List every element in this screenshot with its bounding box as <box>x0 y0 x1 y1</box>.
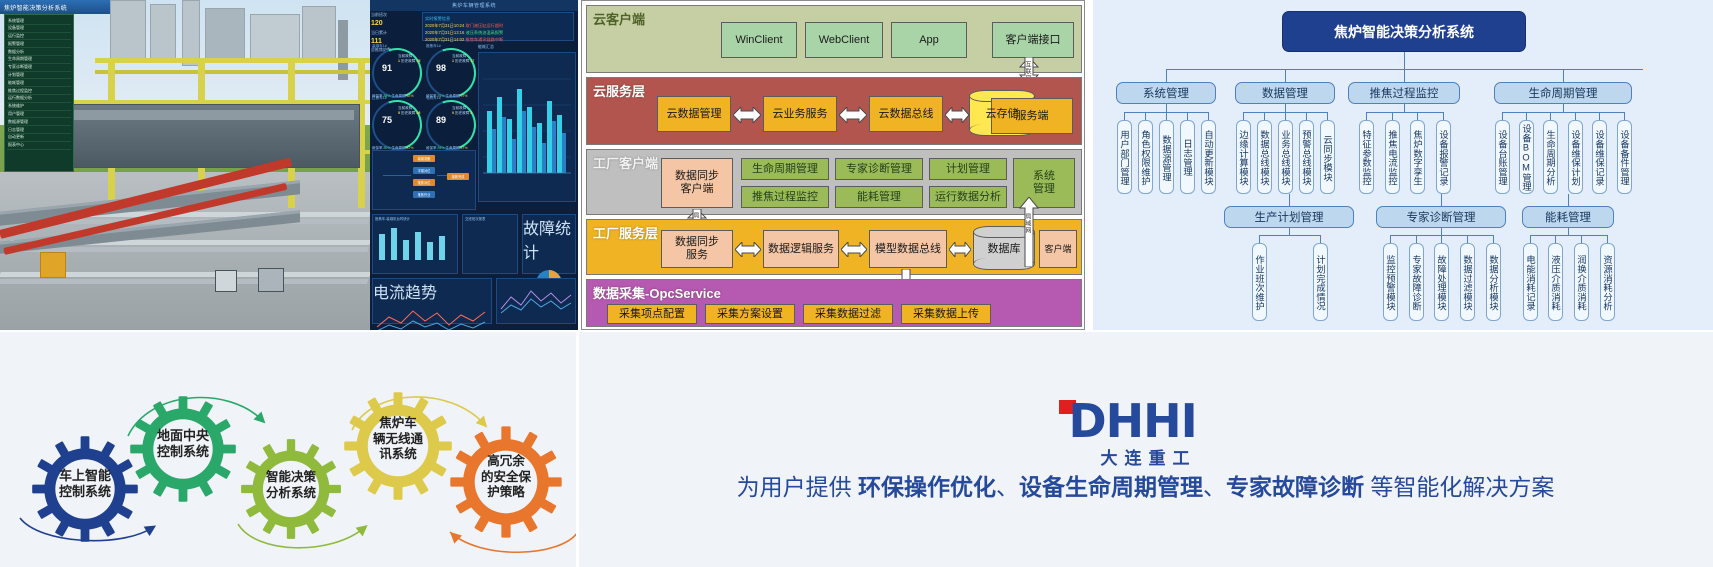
menu-item[interactable]: 日志管理 <box>7 126 71 134</box>
tree-leaf[interactable]: 数据过滤模块 <box>1460 243 1475 321</box>
menu-item[interactable]: 报表中心 <box>7 142 71 150</box>
tree-connector <box>1502 112 1503 120</box>
tree-connector <box>1581 235 1582 243</box>
window-titlebar: 焦炉智能决策分析系统 <box>0 0 110 14</box>
tree-group-pushing-monitor[interactable]: 推焦过程监控 <box>1348 82 1460 104</box>
chart-plot-area <box>478 52 576 202</box>
tree-leaf[interactable]: 计划完成情况 <box>1313 243 1328 321</box>
metric-value: 1 <box>398 59 400 63</box>
gear-1[interactable]: 车上智能 控制系统 <box>30 434 140 544</box>
arrow-bidirectional <box>841 242 867 257</box>
tree-connector <box>1441 194 1442 206</box>
arrow-bidirectional <box>735 242 761 257</box>
building <box>182 0 200 66</box>
gauge-grid: 装煤车1# 91 当前故障 1 历史故障 15 维保率 88% 生命周期 92% <box>372 44 476 149</box>
gear-label-5: 高冗余 的安全保 护策略 <box>448 454 564 501</box>
tree-group-system-mgmt[interactable]: 系统管理 <box>1116 82 1216 104</box>
tagline-highlight-2: 设备生命周期管理 <box>1019 474 1203 500</box>
panel-divider <box>578 0 581 330</box>
layer-title: 云客户端 <box>593 9 645 28</box>
metric-value: 17 <box>470 59 474 63</box>
coke-car <box>258 268 284 292</box>
flow-node[interactable]: 推焦作业 <box>413 191 435 198</box>
node-client-interface[interactable]: 客户端接口 <box>992 22 1074 58</box>
alarm-panel-title: 实时报警信息 <box>425 15 571 22</box>
tree-leaf[interactable]: 边缘计算模块 <box>1236 120 1251 194</box>
tree-connector <box>1416 235 1417 243</box>
menu-item[interactable]: 系统管理 <box>7 17 71 25</box>
node-webclient[interactable]: WebClient <box>805 22 883 58</box>
tree-connector <box>1145 112 1146 120</box>
gauge-title: 装煤车1# <box>372 44 387 49</box>
flow-node[interactable]: 推焦对位 <box>413 179 435 186</box>
tree-leaf[interactable]: 设备备件管理 <box>1617 120 1632 194</box>
tree-leaf[interactable]: 角色权限维护 <box>1138 120 1153 194</box>
gauge-card[interactable]: 拦焦车1# 75 当前故障 5 历史故障 28 维保率 80% 生命周期 87% <box>372 100 422 150</box>
current-trend-panel[interactable]: 电流趋势 13:44 13:45 <box>372 278 492 324</box>
gear-3[interactable]: 智能决策 分析系统 <box>239 437 343 541</box>
tree-leaf[interactable]: 监控预警模块 <box>1383 243 1398 321</box>
tree-bus <box>1366 112 1443 113</box>
oven-top-deck <box>64 110 354 120</box>
layer-factory-client: 工厂客户端 数据同步 客户端 生命周期管理 专家诊断管理 计划管理 推焦过程监控… <box>586 149 1082 215</box>
node-pushing-process-monitor[interactable]: 推焦过程监控 <box>741 186 829 208</box>
navigation-tree[interactable]: 系统管理 设备管理 运行监控 报警管理 数据分析 生命周期管理 专家诊断管理 计… <box>4 14 74 172</box>
tree-leaf[interactable]: 焦炉数字孪生 <box>1410 120 1425 194</box>
layer-cloud-service: 云服务层 云数据管理 云业务服务 云数据总线 <box>586 77 1082 145</box>
tree-connector <box>1493 235 1494 243</box>
gauge-value: 89 <box>430 115 452 125</box>
gear-label-2: 地面中央 控制系统 <box>128 428 238 461</box>
tree-leaf[interactable]: 设备BOM管理 <box>1519 120 1534 194</box>
alarm-row: 2020年7月31日14:02 推焦车通讯链路中断 <box>425 36 571 43</box>
trend-line-chart <box>373 303 491 330</box>
gantry-beam <box>95 70 370 74</box>
metric-value: 92% <box>406 94 413 98</box>
node-collect-point-config[interactable]: 采集项点配置 <box>607 304 697 324</box>
tree-connector <box>1599 112 1600 120</box>
tagline: 为用户提供 环保操作优化、设备生命周期管理、专家故障诊断 等智能化解决方案 <box>737 468 1555 502</box>
metric-label: 当前故障 <box>398 54 412 58</box>
tree-group-production-plan-mgmt[interactable]: 生产计划管理 <box>1224 206 1354 228</box>
menu-item[interactable]: 用户管理 <box>7 111 71 119</box>
tree-connector <box>1285 112 1286 120</box>
menu-item[interactable]: 设备管理 <box>7 25 71 33</box>
tree-group-energy-mgmt[interactable]: 能耗管理 <box>1522 206 1614 228</box>
gauge-value: 75 <box>376 115 398 125</box>
node-collect-scheme-setting[interactable]: 采集方案设置 <box>705 304 795 324</box>
metric-value: 15 <box>416 59 420 63</box>
node-runtime-data-analysis[interactable]: 运行数据分析 <box>929 186 1007 208</box>
building <box>205 8 245 62</box>
tree-connector <box>1166 112 1167 120</box>
metric-label: 生命周期 <box>445 94 459 98</box>
table-bars <box>373 222 457 266</box>
gauge-title: 拦焦车1# <box>372 96 387 101</box>
menu-item[interactable]: 报警管理 <box>7 40 71 48</box>
tree-leaf[interactable]: 数据总线模块 <box>1257 120 1272 194</box>
tree-leaf[interactable]: 电能消耗记录 <box>1523 243 1538 321</box>
energy-bar-chart: 能耗汇总 <box>478 44 576 210</box>
tree-leaf[interactable]: 预警总线模块 <box>1299 120 1314 194</box>
tree-group-expert-diagnosis-mgmt[interactable]: 专家诊断管理 <box>1376 206 1506 228</box>
tree-connector <box>1289 194 1290 206</box>
alarm-text: 液压系统油温高报警 <box>466 30 504 35</box>
tree-connector <box>1607 235 1608 243</box>
tree-connector <box>1289 228 1290 235</box>
panel-divider <box>576 332 579 567</box>
tree-connector <box>1568 228 1569 235</box>
node-lifecycle-mgmt[interactable]: 生命周期管理 <box>741 158 829 180</box>
node-cloud-data-bus[interactable]: 云数据总线 <box>869 96 943 132</box>
menu-item[interactable]: 数据分析 <box>7 48 71 56</box>
layer-title: 云服务层 <box>593 81 645 100</box>
panel-title: 电流趋势 <box>373 279 491 303</box>
bar-chart-svg <box>479 53 575 201</box>
tagline-sep: 、 <box>996 474 1019 500</box>
tree-connector <box>1327 112 1328 120</box>
gauge-card[interactable]: 装煤车1# 91 当前故障 1 历史故障 15 维保率 88% 生命周期 92% <box>372 48 422 98</box>
tree-connector <box>1285 69 1286 82</box>
kpi-value: 120 <box>371 18 420 29</box>
tree-leaf[interactable]: 自动更新模块 <box>1201 120 1216 194</box>
node-label: 云存储 <box>969 90 1035 136</box>
tree-bus <box>1530 235 1607 236</box>
layer-title: 工厂服务层 <box>593 223 658 242</box>
tagline-suffix: 等智能化解决方案 <box>1364 474 1554 500</box>
layer-data-acquisition: 数据采集-OpcService 采集项点配置 采集方案设置 采集数据过滤 采集数… <box>586 279 1082 327</box>
tree-connector <box>1530 235 1531 243</box>
menu-item[interactable]: 计划管理 <box>7 72 71 80</box>
node-cloud-storage[interactable]: 云存储 <box>969 90 1035 136</box>
node-client[interactable]: 客户端 <box>1039 230 1077 268</box>
tagline-highlight-1: 环保操作优化 <box>858 474 996 500</box>
panel-divider <box>1085 0 1093 330</box>
panel-divider <box>0 330 1713 332</box>
metric-value: 5 <box>470 111 472 115</box>
tree-leaf[interactable]: 数据源管理 <box>1159 120 1174 194</box>
menu-item[interactable]: 生命周期管理 <box>7 56 71 64</box>
table-title: 交班班次报表 <box>463 215 517 222</box>
tree-connector <box>1441 235 1442 243</box>
menu-item[interactable]: 专家诊断管理 <box>7 64 71 72</box>
node-expert-diagnosis-mgmt[interactable]: 专家诊断管理 <box>835 158 923 180</box>
tree-leaf[interactable]: 设备维保计划 <box>1568 120 1583 194</box>
tree-connector <box>1404 69 1405 82</box>
alarm-panel: 实时报警信息 2020年7月31日10:24 取门液压缸运行超时 2020年7月… <box>422 12 574 41</box>
menu-item[interactable]: 运行数据分析 <box>7 95 71 103</box>
tree-connector <box>1417 112 1418 120</box>
arrow-bidirectional <box>733 107 761 123</box>
system-architecture-diagram: 云客户端 WinClient WebClient App 客户端接口 互联网 云… <box>581 0 1085 330</box>
flow-connector <box>437 175 447 176</box>
tree-connector <box>1124 112 1125 120</box>
tree-connector <box>1285 104 1286 112</box>
tree-connector <box>1441 228 1442 235</box>
node-energy-mgmt[interactable]: 能耗管理 <box>835 186 923 208</box>
gauge-title: 推焦车1# <box>426 44 441 49</box>
chart-title: 能耗汇总 <box>478 44 576 50</box>
tree-bus <box>1502 112 1624 113</box>
tree-connector <box>1624 112 1625 120</box>
metric-value: 0 <box>452 111 454 115</box>
node-data-sync-service[interactable]: 数据同步 服务 <box>661 230 733 268</box>
tree-connector <box>1166 104 1167 112</box>
tagline-prefix: 为用户提供 <box>737 474 858 500</box>
shift-report-table[interactable]: 交班班次报表 <box>462 214 518 274</box>
tree-root-node[interactable]: 焦炉智能决策分析系统 <box>1282 11 1526 52</box>
tree-connector <box>1575 112 1576 120</box>
tree-connector <box>1208 112 1209 120</box>
tree-group-lifecycle-mgmt[interactable]: 生命周期管理 <box>1494 82 1632 104</box>
tree-connector <box>1366 112 1367 120</box>
gear-label-4: 焦炉车 辆无线通 讯系统 <box>342 416 454 463</box>
gear-chain-diagram: 车上智能 控制系统 地面中央 控制系统 <box>0 332 578 567</box>
tree-leaf[interactable]: 推焦电流监控 <box>1385 120 1400 194</box>
tree-bus <box>1259 235 1320 236</box>
node-cloud-data-mgmt[interactable]: 云数据管理 <box>657 96 731 132</box>
metric-label: 当前故障 <box>452 106 466 110</box>
tree-leaf[interactable]: 专家故障诊断 <box>1409 243 1424 321</box>
tree-connector <box>1555 235 1556 243</box>
node-model-data-bus[interactable]: 模型数据总线 <box>869 230 947 268</box>
metric-value: 1 <box>452 59 454 63</box>
menu-item[interactable]: 自动更新 <box>7 134 71 142</box>
node-database[interactable]: 数据库 <box>973 226 1035 270</box>
flow-connector <box>383 175 411 176</box>
tree-group-data-mgmt[interactable]: 数据管理 <box>1235 82 1335 104</box>
tree-leaf[interactable]: 资源消耗分析 <box>1600 243 1615 321</box>
process-flow-diagram: 装煤准备 平煤对位 推焦对位 推焦作业 接焦完成 <box>372 150 476 210</box>
metric-label: 生命周期 <box>391 94 405 98</box>
tree-connector <box>1187 112 1188 120</box>
tree-connector <box>1404 52 1405 69</box>
tree-leaf[interactable]: 设备报警记录 <box>1436 120 1451 194</box>
gauge-card[interactable]: 推焦车1# 98 当前故障 1 历史故障 17 维保率 91% 生命周期 97% <box>426 48 476 98</box>
tree-leaf[interactable]: 设备维保记录 <box>1592 120 1607 194</box>
alarm-time: 2020年7月31日13:16 <box>425 30 464 35</box>
gear-2[interactable]: 地面中央 控制系统 <box>128 394 238 504</box>
dashboard-header: 焦炉车辆管理系统 <box>370 0 578 11</box>
node-data-logic-service[interactable]: 数据逻辑服务 <box>763 230 839 268</box>
tree-connector <box>1306 112 1307 120</box>
tree-connector <box>1404 104 1405 112</box>
tagline-highlight-3: 专家故障诊断 <box>1226 474 1364 500</box>
metric-label: 历史故障 <box>401 111 415 115</box>
coke-car <box>215 270 237 292</box>
bottom-panels: 推焦车-装煤机台时统计 交班班次报表 故障统计 <box>372 214 576 328</box>
tree-connector <box>1320 235 1321 243</box>
alarm-row: 2020年7月31日10:24 取门液压缸运行超时 <box>425 22 571 29</box>
gauge-metrics: 当前故障 1 历史故障 15 <box>398 54 422 65</box>
gear-5[interactable]: 高冗余 的安全保 护策略 <box>448 424 564 540</box>
poster-canvas: 焦炉智能决策分析系统 系统管理 设备管理 运行监控 报警管理 数据分析 生命周期… <box>0 0 1713 567</box>
gauge-title: 电机车1# <box>426 96 441 101</box>
tree-connector <box>1390 235 1391 243</box>
tree-leaf[interactable]: 特征参数监控 <box>1359 120 1374 194</box>
tree-connector <box>1563 69 1564 82</box>
tagline-sep: 、 <box>1203 474 1226 500</box>
stat-table[interactable]: 推焦车-装煤机台时统计 <box>372 214 458 274</box>
dhhi-logo: DHHI 大连重工 <box>1041 398 1251 462</box>
fault-stat-panel[interactable]: 故障统计 <box>522 214 576 274</box>
layer-title: 数据采集-OpcService <box>593 283 721 302</box>
tree-connector <box>1166 69 1167 82</box>
gear-4[interactable]: 焦炉车 辆无线通 讯系统 <box>342 390 454 502</box>
logo-chinese-name: 大连重工 <box>1101 444 1197 469</box>
tree-connector <box>1443 112 1444 120</box>
tree-leaf[interactable]: 业务总线模块 <box>1278 120 1293 194</box>
tree-leaf[interactable]: 用户部门管理 <box>1117 120 1132 194</box>
tree-leaf[interactable]: 润换介质消耗 <box>1574 243 1589 321</box>
window-title: 焦炉智能决策分析系统 <box>4 3 67 12</box>
menu-item[interactable]: 数据源管理 <box>7 118 71 126</box>
arrow-bidirectional <box>949 242 971 257</box>
table-title: 推焦车-装煤机台时统计 <box>373 215 457 222</box>
menu-item[interactable]: 系统维护 <box>7 103 71 111</box>
trend-line-chart-2 <box>497 279 575 319</box>
flow-node[interactable]: 平煤对位 <box>413 167 435 174</box>
layer-title: 工厂客户端 <box>593 153 658 172</box>
arrow-bidirectional <box>839 107 867 123</box>
metric-value: 5 <box>398 111 400 115</box>
menu-item[interactable]: 能耗管理 <box>7 79 71 87</box>
node-app[interactable]: App <box>891 22 967 58</box>
building <box>110 0 146 62</box>
arrow-bidirectional <box>945 107 969 123</box>
tree-leaf[interactable]: 作业班次维护 <box>1252 243 1267 321</box>
coke-car <box>40 252 66 278</box>
tree-leaf[interactable]: 设备台账管理 <box>1495 120 1510 194</box>
tree-leaf[interactable]: 生命周期分析 <box>1543 120 1558 194</box>
tree-leaf[interactable]: 液压介质消耗 <box>1548 243 1563 321</box>
node-plan-mgmt[interactable]: 计划管理 <box>929 158 1007 180</box>
metric-value: 28 <box>416 111 420 115</box>
secondary-trend-panel[interactable] <box>496 278 576 324</box>
hmi-dashboard: 焦炉车辆管理系统 当前班次 120 当日累计 111 总推焦炉数 实时报警信息 … <box>370 0 578 330</box>
node-collect-data-upload[interactable]: 采集数据上传 <box>901 304 991 324</box>
layer-factory-service: 工厂服务层 数据同步 服务 数据逻辑服务 模型数据总线 <box>586 219 1082 275</box>
gauge-metrics: 当前故障 0 历史故障 5 <box>452 106 476 117</box>
metric-label: 历史故障 <box>455 59 469 63</box>
menu-item[interactable]: 推焦过程监控 <box>7 87 71 95</box>
panel-title: 故障统计 <box>523 215 575 263</box>
gantry-beam <box>95 58 370 63</box>
gauge-value: 91 <box>376 63 398 73</box>
metric-label: 历史故障 <box>455 111 469 115</box>
node-winclient[interactable]: WinClient <box>721 22 797 58</box>
tree-connector <box>1392 112 1393 120</box>
building <box>250 14 300 62</box>
function-module-tree: 焦炉智能决策分析系统 系统管理 用户部门管理 角色权限维护 数据源管理 日志管理… <box>1093 0 1713 330</box>
gear-label-1: 车上智能 控制系统 <box>30 468 140 501</box>
tree-connector <box>1568 194 1569 206</box>
tree-connector <box>1264 112 1265 120</box>
tree-connector <box>1526 112 1527 120</box>
tree-leaf[interactable]: 故障处理模块 <box>1434 243 1449 321</box>
node-data-sync-client[interactable]: 数据同步 客户端 <box>661 158 733 208</box>
tree-leaf[interactable]: 云同步模块 <box>1320 120 1335 194</box>
node-collect-data-filter[interactable]: 采集数据过滤 <box>803 304 893 324</box>
alarm-time: 2020年7月31日10:24 <box>425 23 464 28</box>
building <box>302 6 336 62</box>
alarm-row: 2020年7月31日13:16 液压系统油温高报警 <box>425 29 571 36</box>
building <box>150 4 176 62</box>
metric-label: 当前故障 <box>398 106 412 110</box>
metric-label: 当前故障 <box>452 54 466 58</box>
brand-block: DHHI 大连重工 为用户提供 环保操作优化、设备生命周期管理、专家故障诊断 等… <box>578 332 1713 567</box>
flow-node[interactable]: 装煤准备 <box>413 155 435 162</box>
layer-cloud-client: 云客户端 WinClient WebClient App 客户端接口 <box>586 5 1082 73</box>
gauge-metrics: 当前故障 5 历史故障 28 <box>398 106 422 117</box>
node-cloud-business-service[interactable]: 云业务服务 <box>763 96 837 132</box>
alarm-time: 2020年7月31日14:02 <box>425 37 464 42</box>
alarm-text: 取门液压缸运行超时 <box>466 23 504 28</box>
tree-connector <box>1563 104 1564 112</box>
gauge-card[interactable]: 电机车1# 89 当前故障 0 历史故障 5 维保率 84% 生命周期 87% <box>426 100 476 150</box>
gear-label-3: 智能决策 分析系统 <box>239 470 343 501</box>
tree-leaf[interactable]: 日志管理 <box>1180 120 1195 194</box>
metric-value: 97% <box>460 94 467 98</box>
alarm-text: 推焦车通讯链路中断 <box>466 37 504 42</box>
tree-connector <box>1550 112 1551 120</box>
tree-leaf[interactable]: 数据分析模块 <box>1486 243 1501 321</box>
tree-connector <box>1259 235 1260 243</box>
menu-item[interactable]: 运行监控 <box>7 33 71 41</box>
gauge-value: 98 <box>430 63 452 73</box>
metric-label: 历史故障 <box>401 59 415 63</box>
flow-node[interactable]: 接焦完成 <box>447 173 469 180</box>
gauge-metrics: 当前故障 1 历史故障 17 <box>452 54 476 65</box>
node-label: 数据库 <box>973 226 1035 270</box>
tree-connector <box>1467 235 1468 243</box>
tree-connector <box>1243 112 1244 120</box>
logo-wordmark: DHHI <box>1069 398 1197 444</box>
